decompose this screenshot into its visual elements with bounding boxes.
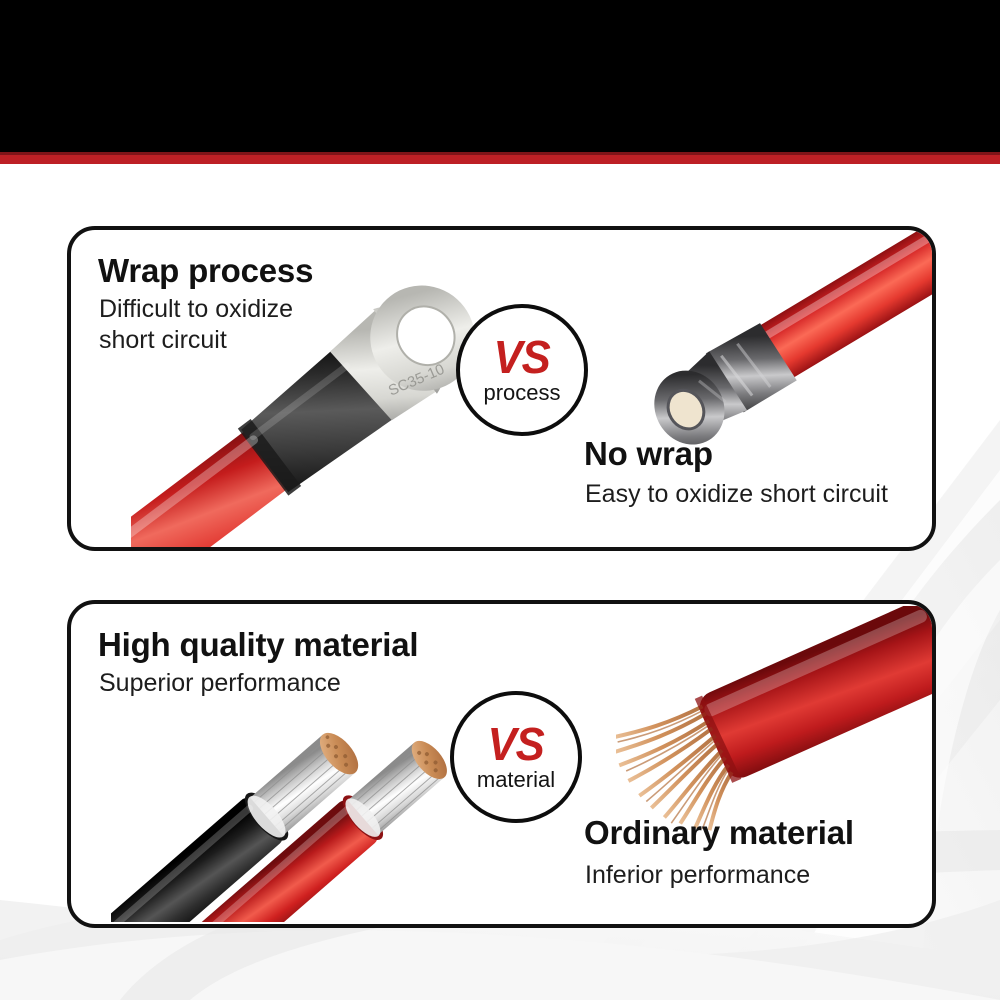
header-red-stripe [0,155,1000,164]
card1-left-title: Wrap process [98,252,313,290]
vs-category-label: process [483,380,560,406]
header-band [0,0,1000,152]
unwrapped-lug-terminal-image [651,226,936,452]
tinned-copper-cables-image [111,682,471,922]
vs-badge-material: VS material [450,691,582,823]
card2-right-subtitle: Inferior performance [585,860,810,891]
vs-category-label: material [477,767,555,793]
card1-right-subtitle: Easy to oxidize short circuit [585,479,888,510]
card1-left-subtitle: Difficult to oxidize short circuit [99,294,293,356]
vs-label: VS [488,722,544,766]
card1-left-subtitle-line1: Difficult to oxidize [99,294,293,325]
bare-copper-cable-image [616,606,936,841]
vs-badge-process: VS process [456,304,588,436]
card2-left-subtitle: Superior performance [99,668,341,699]
card2-right-title: Ordinary material [584,814,854,852]
vs-label: VS [494,335,550,379]
product-comparison-infographic: PRODUCT COMPARISON [0,0,1000,1000]
card2-left-title: High quality material [98,626,418,664]
card1-right-title: No wrap [584,435,713,473]
card1-left-subtitle-line2: short circuit [99,325,293,356]
